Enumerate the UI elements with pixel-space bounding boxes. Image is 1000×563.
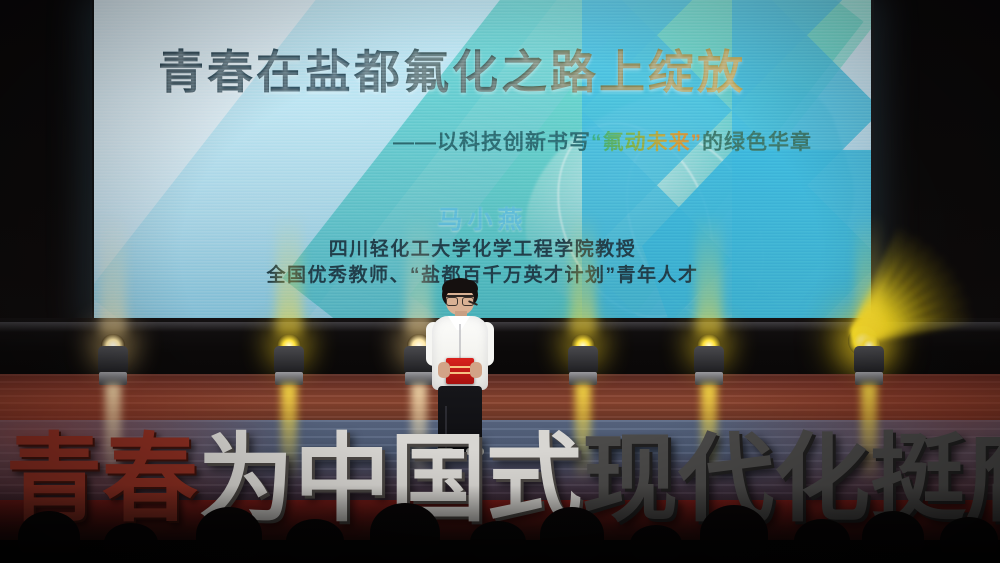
stage-photo: 青春在盐都氟化之路上绽放 ——以科技创新书写“氟动未来”的绿色华章 马小燕 四川… bbox=[0, 0, 1000, 563]
spotlight-1 bbox=[96, 334, 130, 384]
spotlight-5 bbox=[692, 334, 726, 384]
spotlight-2 bbox=[272, 334, 306, 384]
spotlight-6 bbox=[852, 334, 886, 384]
speaker-fringe bbox=[442, 280, 478, 293]
spotlight-4 bbox=[566, 334, 600, 384]
speaker-hand-right bbox=[470, 362, 482, 378]
audience-silhouettes bbox=[0, 485, 1000, 563]
speaker-hand-left bbox=[438, 362, 450, 378]
drape-top-sheen bbox=[0, 322, 1000, 332]
